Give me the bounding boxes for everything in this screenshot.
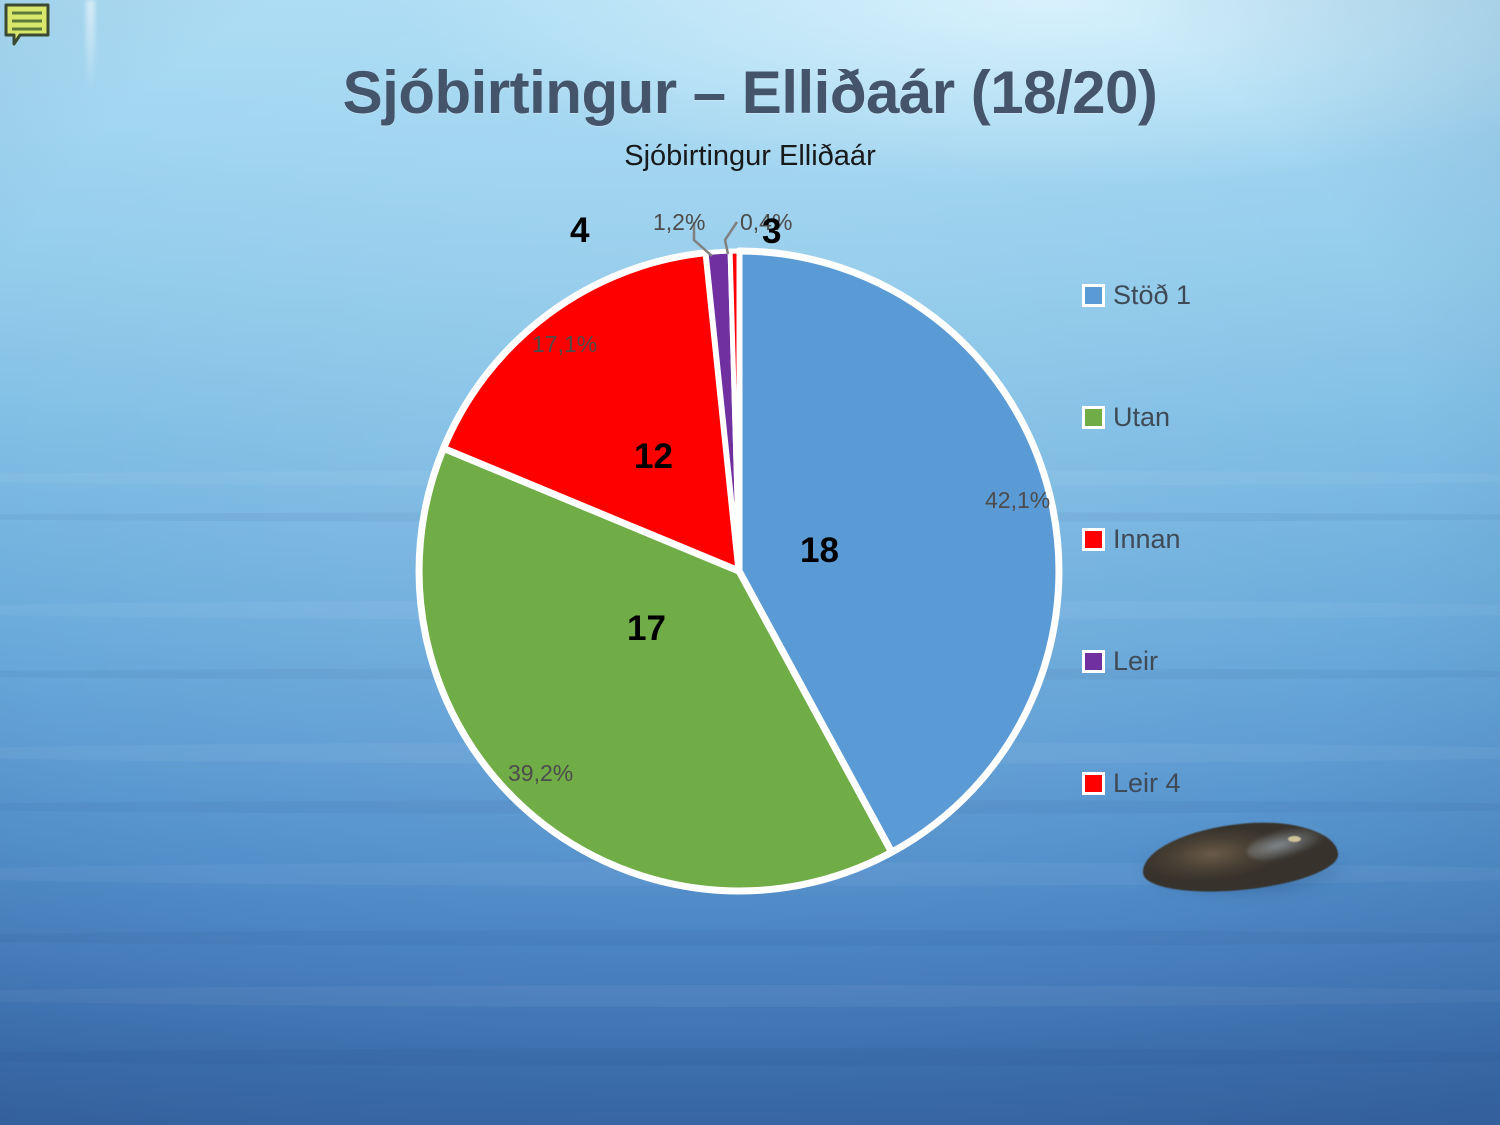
legend-label-utan: Utan xyxy=(1113,404,1170,431)
pie-value-innan: 12 xyxy=(634,437,673,477)
pie-value-leir4: 3 xyxy=(762,212,781,252)
legend-label-stod1: Stöð 1 xyxy=(1113,282,1191,309)
pie-value-stod1: 18 xyxy=(800,531,839,571)
legend-item-leir4[interactable]: Leir 4 xyxy=(1082,770,1312,796)
legend-label-leir: Leir xyxy=(1113,648,1158,675)
legend-label-leir4: Leir 4 xyxy=(1113,770,1181,797)
legend-item-leir[interactable]: Leir xyxy=(1082,648,1312,674)
pie-percent-utan: 39,2% xyxy=(508,760,573,787)
legend-item-utan[interactable]: Utan xyxy=(1082,404,1312,430)
pie-chart: 42,1% 39,2% 17,1% 1,2% 0,4% 18 17 12 4 3… xyxy=(0,0,1500,1125)
legend-swatch-innan xyxy=(1082,528,1105,551)
legend-swatch-leir4 xyxy=(1082,772,1105,795)
pie-percent-leir: 1,2% xyxy=(653,209,705,236)
legend-label-innan: Innan xyxy=(1113,526,1181,553)
legend-item-stod1[interactable]: Stöð 1 xyxy=(1082,282,1312,308)
legend-item-innan[interactable]: Innan xyxy=(1082,526,1312,552)
legend-swatch-leir xyxy=(1082,650,1105,673)
pie-value-utan: 17 xyxy=(627,609,666,649)
pie-percent-innan: 17,1% xyxy=(532,331,597,358)
legend-swatch-utan xyxy=(1082,406,1105,429)
pie-percent-stod1: 42,1% xyxy=(985,487,1050,514)
chart-legend: Stöð 1 Utan Innan Leir Leir 4 xyxy=(1082,282,1312,796)
legend-swatch-stod1 xyxy=(1082,284,1105,307)
pie-value-leir: 4 xyxy=(570,211,589,251)
